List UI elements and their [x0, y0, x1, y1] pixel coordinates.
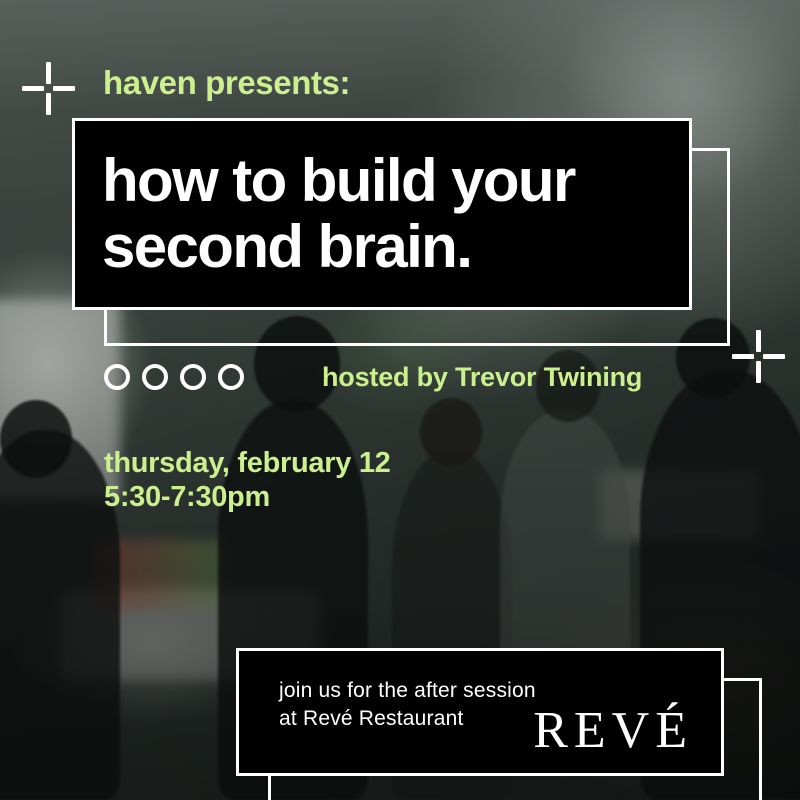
plus-cross-icon: [732, 330, 785, 383]
title-line-2: second brain.: [102, 214, 575, 280]
title-line-1: how to build your: [102, 148, 575, 214]
date-line: thursday, february 12: [104, 446, 391, 480]
title-panel: how to build your second brain.: [72, 118, 692, 310]
date-time-block: thursday, february 12 5:30-7:30pm: [104, 446, 391, 514]
plus-cross-icon: [22, 62, 75, 115]
time-line: 5:30-7:30pm: [104, 480, 391, 514]
title-text-group: how to build your second brain.: [102, 148, 575, 280]
reve-logo: REVÉ: [533, 703, 693, 759]
host-line: hosted by Trevor Twining: [322, 362, 642, 393]
brand-presents-line: haven presents:: [103, 64, 350, 102]
after-session-text: join us for the after session at Revé Re…: [279, 677, 536, 733]
circle-outline-icon: [180, 364, 206, 390]
circle-outline-icon: [104, 364, 130, 390]
after-session-panel: join us for the after session at Revé Re…: [236, 648, 724, 776]
dot-row-decoration: [104, 364, 244, 390]
event-poster: haven presents: how to build your second…: [0, 0, 800, 800]
circle-outline-icon: [142, 364, 168, 390]
circle-outline-icon: [218, 364, 244, 390]
after-session-line-1: join us for the after session: [279, 677, 536, 705]
after-session-line-2: at Revé Restaurant: [279, 705, 536, 733]
